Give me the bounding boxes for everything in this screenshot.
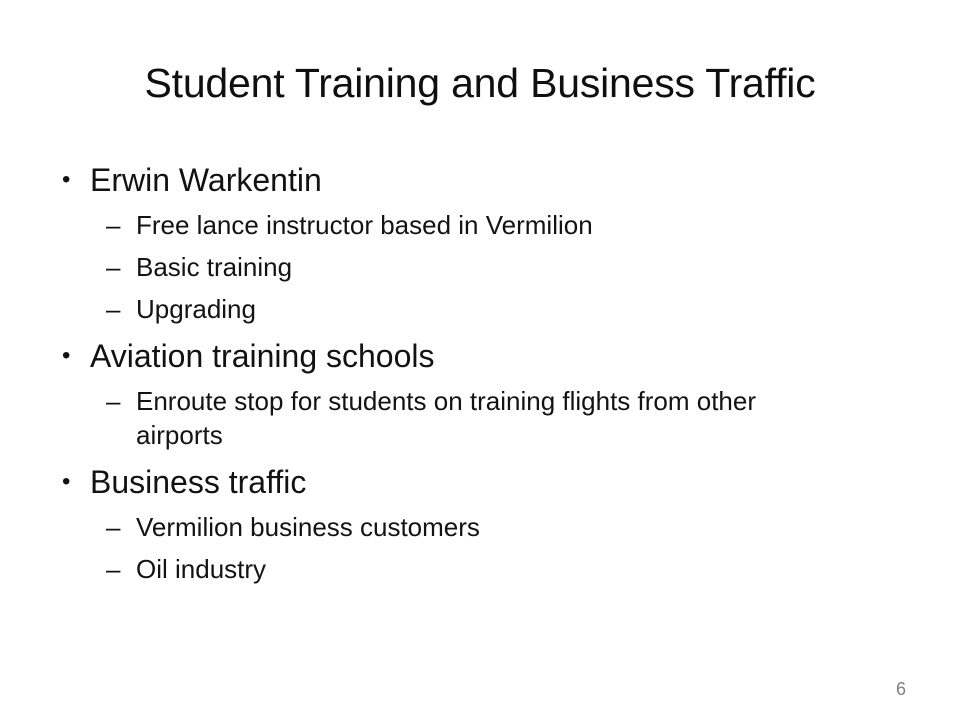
list-item-level1: • Business traffic [56, 462, 846, 502]
outline-group: • Aviation training schools – Enroute st… [56, 336, 846, 452]
list-item-level1-label: Erwin Warkentin [90, 162, 322, 198]
list-item-level2-label: Vermilion business customers [136, 510, 836, 544]
outline-group: • Erwin Warkentin – Free lance instructo… [56, 160, 846, 326]
list-item-level2: – Basic training [56, 250, 846, 284]
outline-group: • Business traffic – Vermilion business … [56, 462, 846, 586]
bullet-dash-icon: – [106, 510, 120, 544]
list-item-level2-label: Oil industry [136, 552, 836, 586]
list-item-level2: – Upgrading [56, 292, 846, 326]
list-item-level2-label: Enroute stop for students on training fl… [136, 384, 836, 452]
slide-body-outline: • Erwin Warkentin – Free lance instructo… [56, 160, 846, 592]
list-item-level2: – Vermilion business customers [56, 510, 846, 544]
list-item-level1-label: Business traffic [90, 464, 306, 500]
list-item-level1: • Erwin Warkentin [56, 160, 846, 200]
bullet-dash-icon: – [106, 292, 120, 326]
slide-number: 6 [896, 679, 906, 699]
bullet-dash-icon: – [106, 250, 120, 284]
bullet-dash-icon: – [106, 208, 120, 242]
bullet-dot-icon: • [62, 462, 70, 502]
bullet-dash-icon: – [106, 552, 120, 586]
list-item-level1: • Aviation training schools [56, 336, 846, 376]
list-item-level2: – Enroute stop for students on training … [56, 384, 846, 452]
bullet-dot-icon: • [62, 336, 70, 376]
list-item-level2: – Oil industry [56, 552, 846, 586]
list-item-level2: – Free lance instructor based in Vermili… [56, 208, 846, 242]
list-item-level2-label: Upgrading [136, 292, 836, 326]
bullet-dot-icon: • [62, 160, 70, 200]
bullet-dash-icon: – [106, 384, 120, 418]
slide: Student Training and Business Traffic • … [0, 0, 960, 720]
list-item-level2-label: Free lance instructor based in Vermilion [136, 208, 836, 242]
list-item-level1-label: Aviation training schools [90, 338, 435, 374]
page-title: Student Training and Business Traffic [48, 58, 912, 108]
list-item-level2-label: Basic training [136, 250, 836, 284]
